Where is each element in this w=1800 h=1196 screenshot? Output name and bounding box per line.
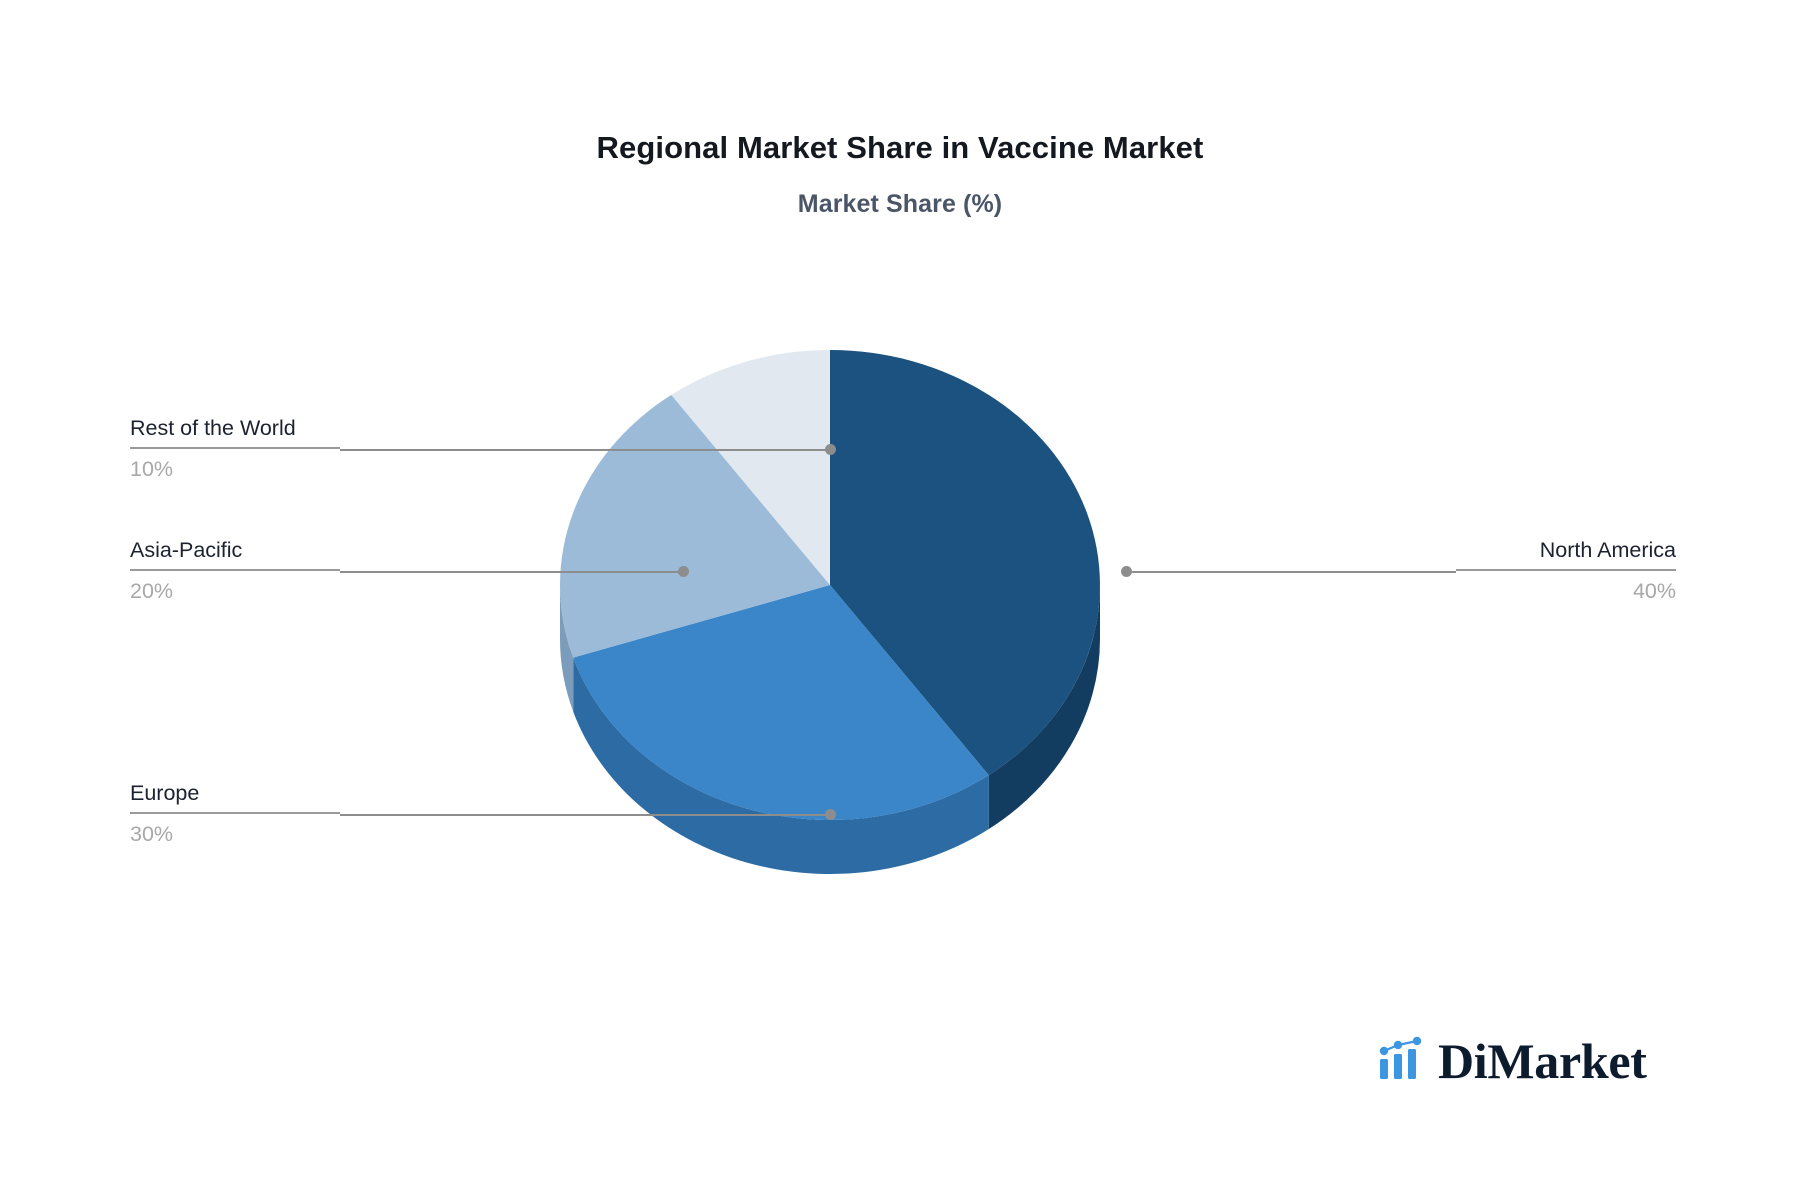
callout-label-rest-of-world: Rest of the World <box>130 413 340 447</box>
dimarket-logo: DiMarket <box>1378 1035 1647 1086</box>
callout-rest-of-world: Rest of the World 10% <box>130 413 340 484</box>
chart-subtitle: Market Share (%) <box>0 190 1800 219</box>
connector-dot-europe <box>825 809 836 820</box>
callout-label-north-america: North America <box>1456 535 1676 569</box>
callout-value-rest-of-world: 10% <box>130 449 340 484</box>
chart-canvas: Regional Market Share in Vaccine Market … <box>0 0 1800 1196</box>
callout-label-europe: Europe <box>130 778 340 812</box>
logo-wordmark: DiMarket <box>1438 1036 1647 1086</box>
callout-asia-pacific: Asia-Pacific 20% <box>130 535 340 606</box>
connector-dot-rest-of-world <box>825 444 836 455</box>
pie-top-faces <box>560 350 1100 820</box>
pie-chart <box>560 350 1240 910</box>
chart-title: Regional Market Share in Vaccine Market <box>0 130 1800 166</box>
callout-value-europe: 30% <box>130 814 340 849</box>
callout-value-north-america: 40% <box>1456 571 1676 606</box>
callout-europe: Europe 30% <box>130 778 340 849</box>
callout-north-america: North America 40% <box>1456 535 1676 606</box>
connector-dot-north-america <box>1121 566 1132 577</box>
connector-dot-asia-pacific <box>678 566 689 577</box>
connector-line-europe <box>340 814 835 816</box>
pie-chart-svg <box>560 350 1240 910</box>
connector-line-rest-of-world <box>340 449 835 451</box>
bar-chart-icon <box>1378 1035 1426 1086</box>
connector-line-north-america <box>1126 571 1456 573</box>
callout-label-asia-pacific: Asia-Pacific <box>130 535 340 569</box>
callout-value-asia-pacific: 20% <box>130 571 340 606</box>
connector-line-asia-pacific <box>340 571 688 573</box>
